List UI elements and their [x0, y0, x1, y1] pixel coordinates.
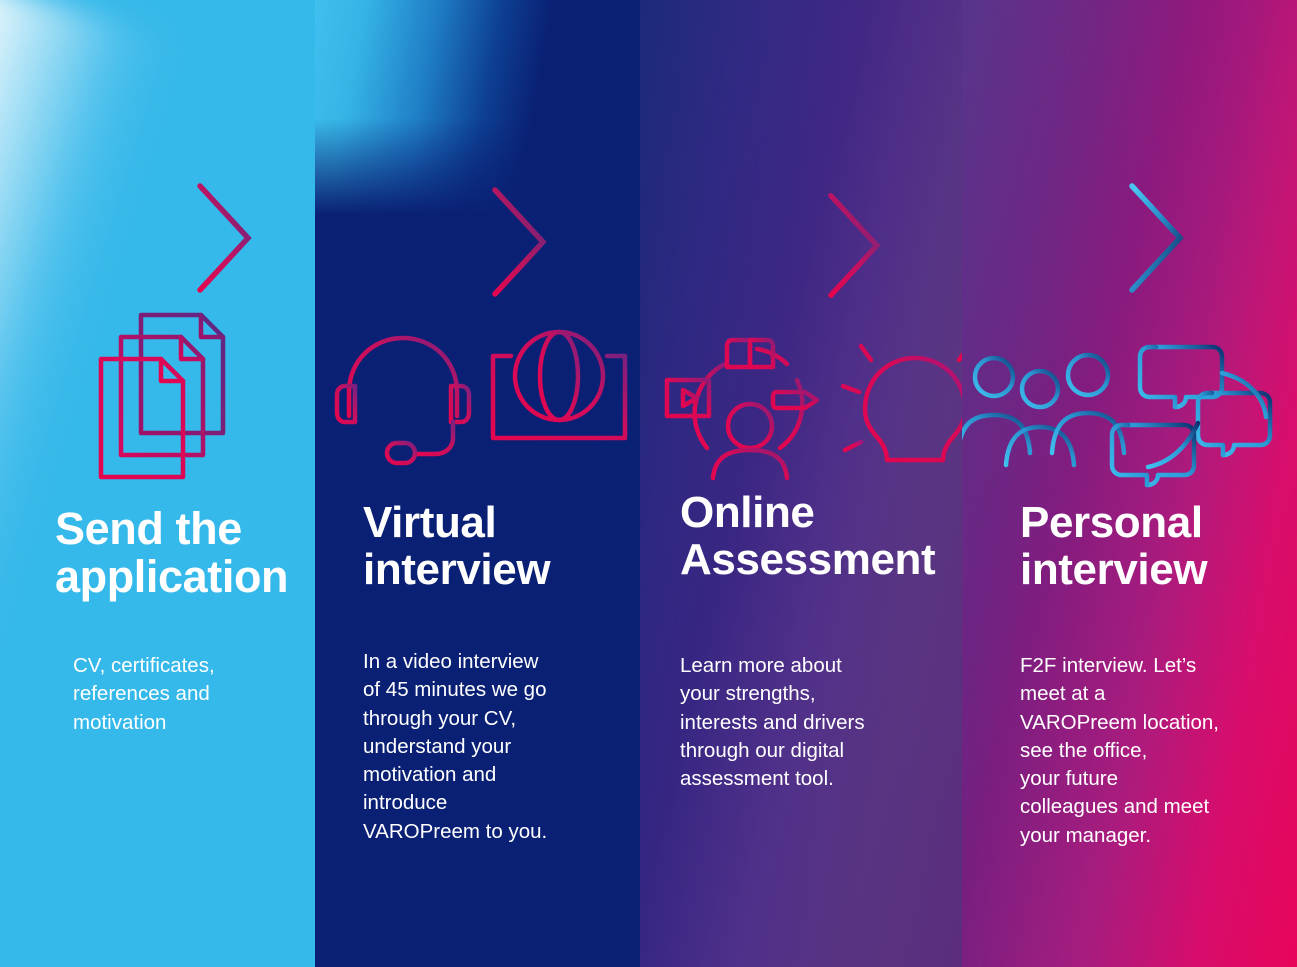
personal-interview-icons [972, 345, 1277, 505]
arrow-right-icon-4 [1020, 178, 1190, 298]
step-body-3: Learn more about your strengths, interes… [680, 652, 865, 793]
step-body-1: CV, certificates, references and motivat… [73, 652, 215, 737]
step-heading-1: Send the application [55, 505, 288, 600]
step-heading-3: Online Assessment [680, 490, 935, 583]
step-column-2: Virtual interview In a video interview o… [315, 0, 640, 967]
virtual-interview-icons [335, 330, 635, 490]
arrow-right-icon-1 [88, 178, 258, 298]
documents-stack-icon [95, 305, 250, 465]
step-body-2: In a video interview of 45 minutes we go… [363, 648, 547, 846]
arrow-right-icon-2 [383, 182, 553, 302]
arrow-right-icon-3 [720, 188, 890, 308]
step-column-3: Online Assessment Learn more about your … [640, 0, 962, 967]
step-column-4: Personal interview F2F interview. Let’s … [962, 0, 1297, 967]
step-column-1: Send the application CV, certificates, r… [0, 0, 315, 967]
step-body-4: F2F interview. Let’s meet at a VAROPreem… [1020, 652, 1219, 850]
step-heading-2: Virtual interview [363, 500, 550, 593]
application-process-infographic: Send the application CV, certificates, r… [0, 0, 1297, 967]
online-assessment-icons [665, 330, 955, 490]
step-heading-4: Personal interview [1020, 500, 1207, 593]
